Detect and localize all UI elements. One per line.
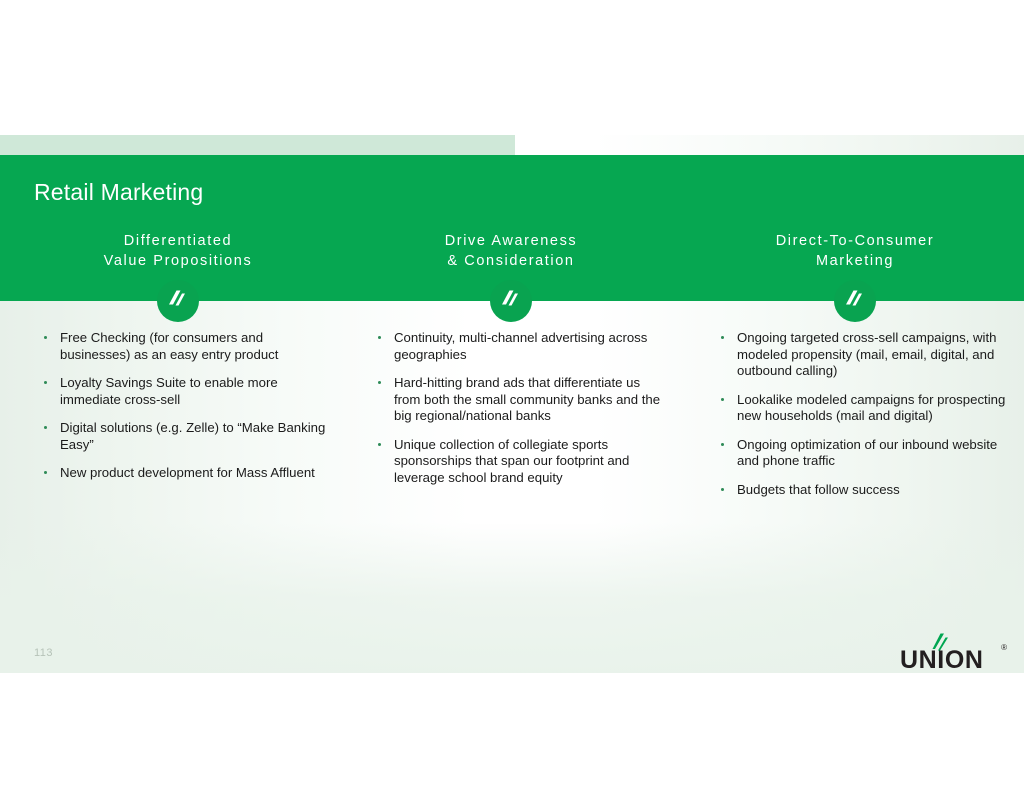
bullet-dot-icon [44, 381, 47, 384]
list-item: Ongoing optimization of our inbound webs… [715, 437, 1010, 470]
list-item: Digital solutions (e.g. Zelle) to “Make … [38, 420, 328, 453]
column-heading-line-2: Value Propositions [18, 251, 338, 271]
column-heading-line-1: Differentiated [18, 231, 338, 251]
registered-trademark-icon: ® [1001, 643, 1007, 652]
list-item-text: Ongoing targeted cross-sell campaigns, w… [737, 330, 996, 378]
bullet-column-direct-to-consumer: Ongoing targeted cross-sell campaigns, w… [715, 330, 1010, 510]
list-item-text: Lookalike modeled campaigns for prospect… [737, 392, 1005, 424]
column-heading-line-1: Direct-To-Consumer [695, 231, 1015, 251]
list-item-text: Continuity, multi-channel advertising ac… [394, 330, 647, 362]
list-item-text: Free Checking (for consumers and busines… [60, 330, 278, 362]
decorative-pale-bar [0, 135, 515, 155]
list-item-text: Digital solutions (e.g. Zelle) to “Make … [60, 420, 325, 452]
column-heading-direct-to-consumer: Direct-To-Consumer Marketing [695, 231, 1015, 271]
list-item: Unique collection of collegiate sports s… [372, 437, 662, 487]
bullet-dot-icon [44, 426, 47, 429]
bullet-dot-icon [378, 381, 381, 384]
list-item: Ongoing targeted cross-sell campaigns, w… [715, 330, 1010, 380]
bullet-dot-icon [44, 471, 47, 474]
list-item: Budgets that follow success [715, 482, 1010, 499]
bullet-dot-icon [721, 488, 724, 491]
brand-logo: UNION ® [900, 633, 1006, 673]
list-item-text: Hard-hitting brand ads that differentiat… [394, 375, 660, 423]
bullet-column-differentiated-value-propositions: Free Checking (for consumers and busines… [38, 330, 328, 494]
list-item-text: New product development for Mass Affluen… [60, 465, 315, 480]
list-item: Loyalty Savings Suite to enable more imm… [38, 375, 328, 408]
column-heading-differentiated-value-propositions: Differentiated Value Propositions [18, 231, 338, 271]
brand-wordmark: UNION [900, 646, 984, 673]
list-item-text: Budgets that follow success [737, 482, 900, 497]
list-item: Lookalike modeled campaigns for prospect… [715, 392, 1010, 425]
column-heading-line-2: & Consideration [351, 251, 671, 271]
list-item: New product development for Mass Affluen… [38, 465, 328, 482]
union-slashes-badge-icon [157, 280, 199, 322]
bullet-dot-icon [44, 336, 47, 339]
list-item-text: Unique collection of collegiate sports s… [394, 437, 629, 485]
list-item-text: Ongoing optimization of our inbound webs… [737, 437, 997, 469]
bullet-dot-icon [721, 336, 724, 339]
list-item: Free Checking (for consumers and busines… [38, 330, 328, 363]
union-slashes-badge-icon [490, 280, 532, 322]
column-heading-drive-awareness: Drive Awareness & Consideration [351, 231, 671, 271]
page-number: 113 [34, 647, 53, 659]
bullet-dot-icon [378, 336, 381, 339]
bullet-dot-icon [721, 443, 724, 446]
column-heading-line-2: Marketing [695, 251, 1015, 271]
bullet-dot-icon [721, 398, 724, 401]
slide-canvas: Retail Marketing Differentiated Value Pr… [0, 135, 1024, 673]
list-item: Continuity, multi-channel advertising ac… [372, 330, 662, 363]
list-item: Hard-hitting brand ads that differentiat… [372, 375, 662, 425]
column-heading-line-1: Drive Awareness [351, 231, 671, 251]
union-slashes-badge-icon [834, 280, 876, 322]
bullet-column-drive-awareness: Continuity, multi-channel advertising ac… [372, 330, 662, 498]
list-item-text: Loyalty Savings Suite to enable more imm… [60, 375, 278, 407]
bullet-dot-icon [378, 443, 381, 446]
page-title: Retail Marketing [34, 179, 203, 206]
